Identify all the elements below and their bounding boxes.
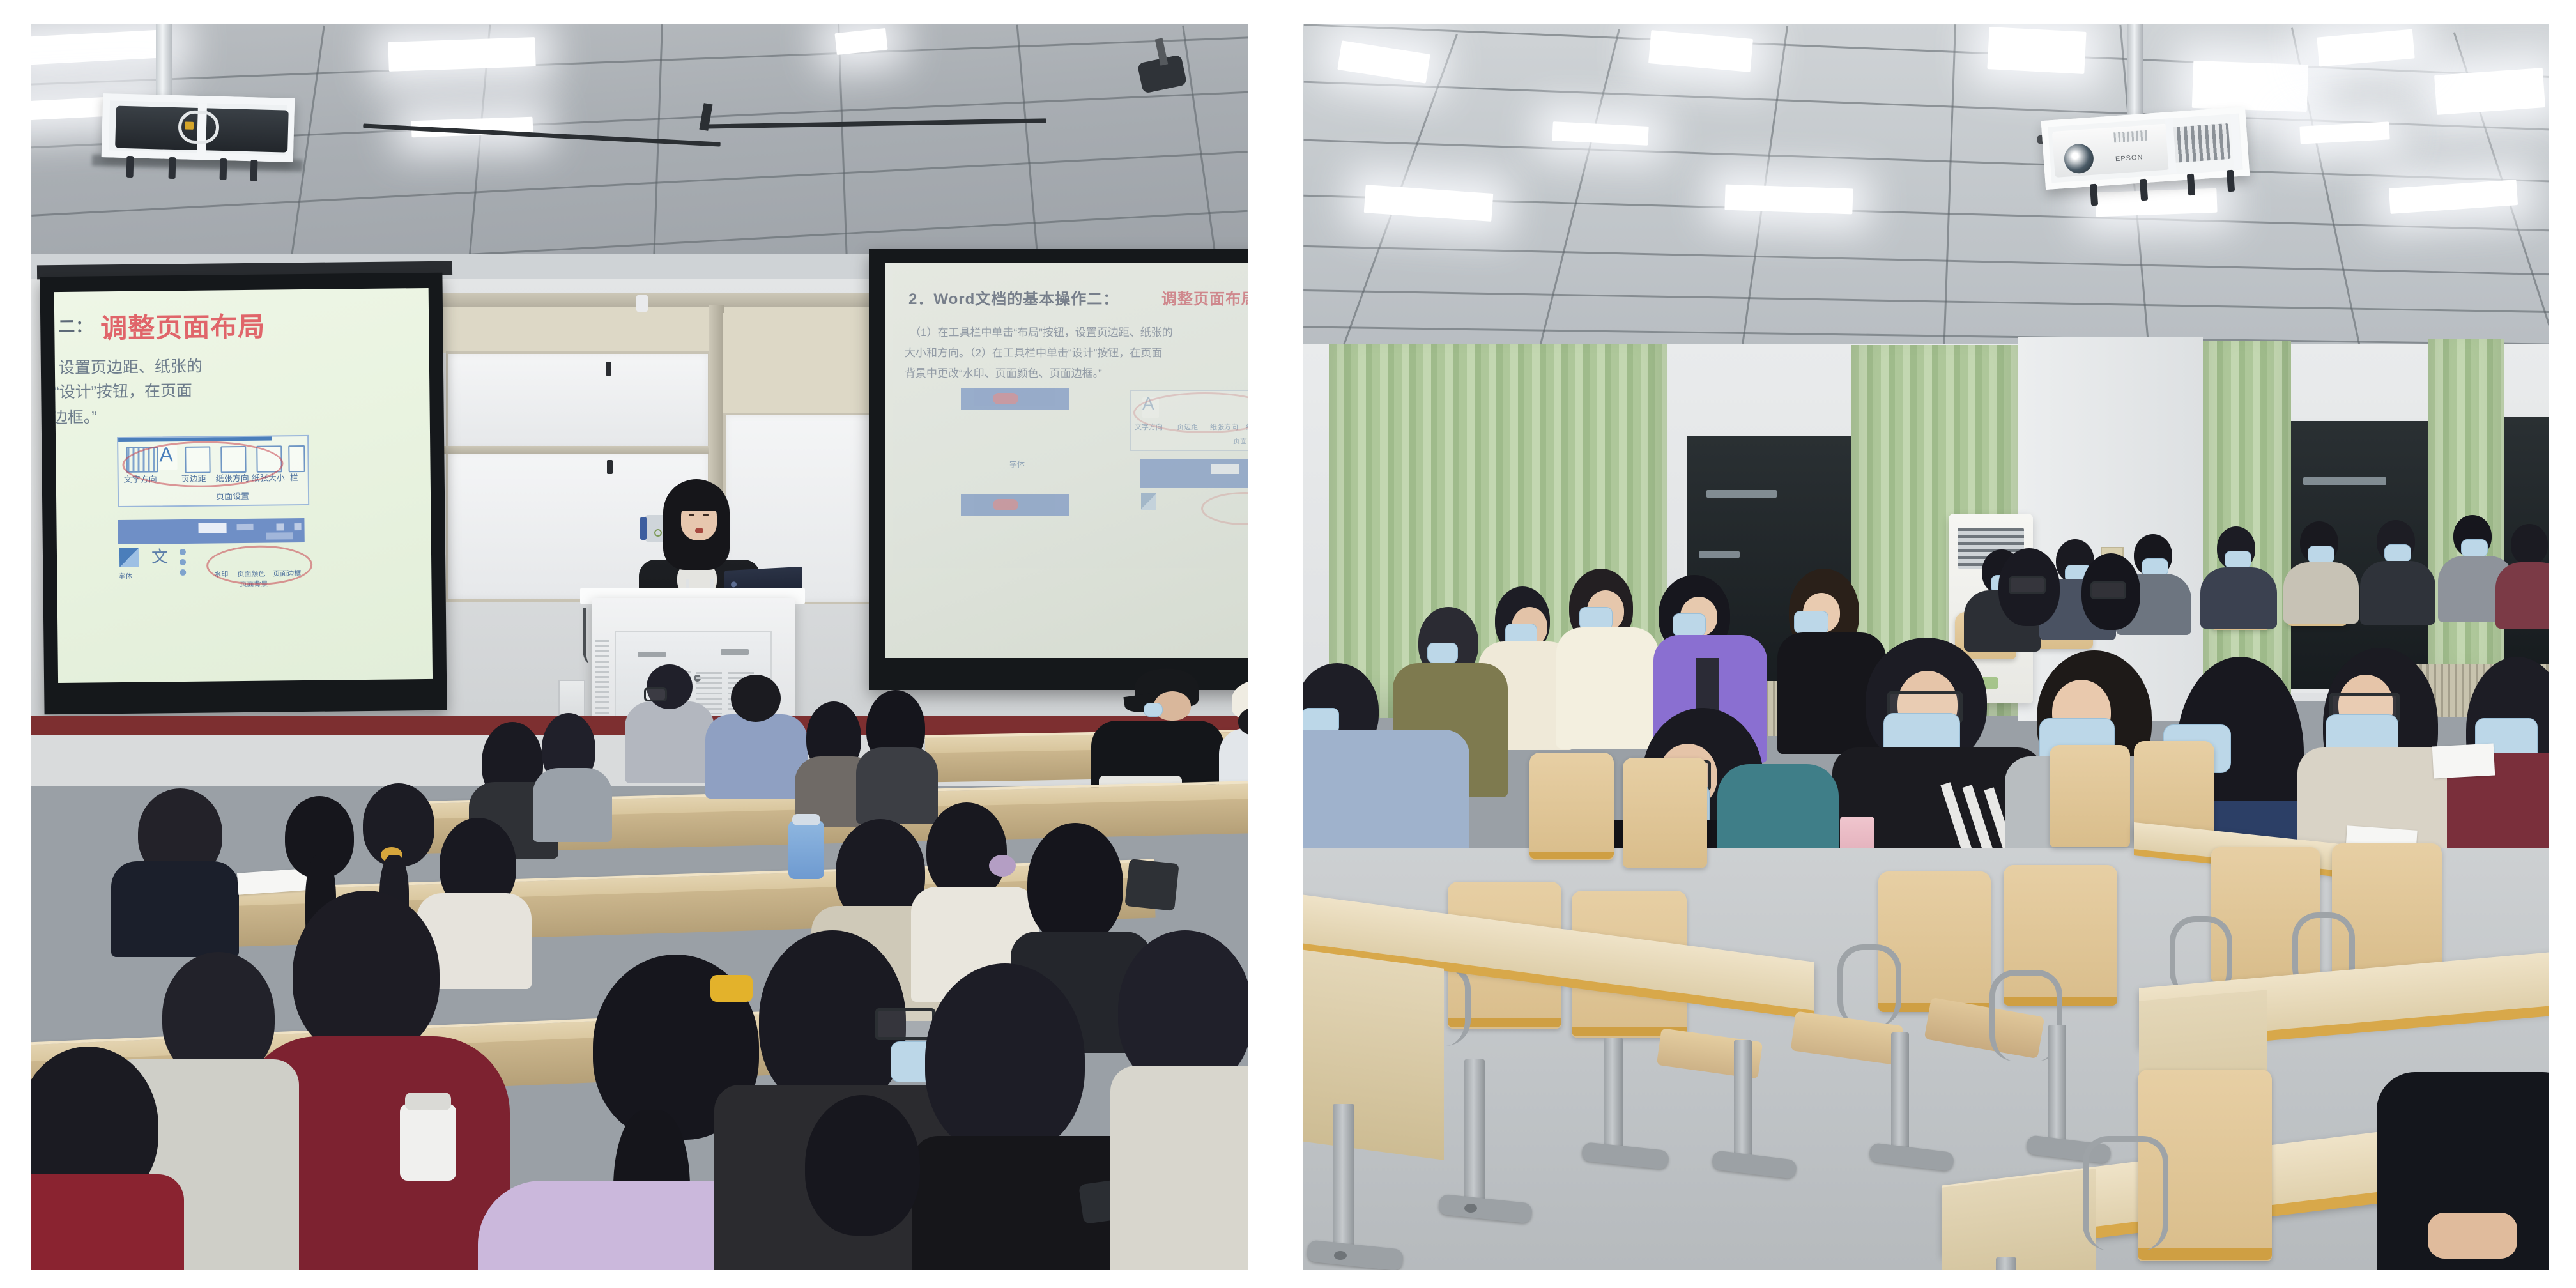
student-torso (2200, 567, 2277, 629)
student-hair (926, 802, 1007, 898)
thermos-lid (405, 1092, 451, 1110)
whiteboard-track (440, 293, 887, 307)
eyeglasses (875, 1008, 935, 1040)
titlebar-close-icon (294, 523, 301, 530)
student-torso (111, 861, 239, 957)
student-torso (2360, 561, 2435, 625)
slide-body-line: “设计”按钮，在页面 (54, 379, 192, 405)
student-hair (805, 1095, 920, 1236)
lecturer-mouth (695, 528, 703, 533)
student-torso (705, 714, 808, 799)
cage-foot (126, 156, 134, 178)
slide-heading-text: 调整页面布局 (100, 305, 266, 346)
projector-cage (102, 93, 295, 162)
student-torso (2283, 562, 2359, 624)
chair-back[interactable] (1529, 753, 1614, 860)
ribbon-icon-columns (288, 445, 305, 472)
student-hands (2428, 1213, 2517, 1259)
hair-clip-yellow (710, 975, 753, 1002)
slide-annotation-oval (993, 499, 1018, 510)
ribbon-icon-font: 文 (151, 548, 168, 567)
ceiling-light (1987, 27, 2086, 74)
ribbon-group-label: 页面设置 (216, 489, 249, 502)
desk-leg (1996, 1257, 2016, 1270)
slide-titlebar-screenshot (961, 494, 1069, 516)
projector-body: EPSON (2052, 124, 2170, 178)
lecturer-eye (703, 514, 709, 516)
slide-font-ribbon (961, 414, 1076, 456)
leg-bolt (1334, 1251, 1347, 1260)
whiteboard-panel (446, 351, 710, 451)
left-photo: 二： 调整页面布局 设置页边距、纸张的 “设计”按钮，在页面 边框。” A (31, 24, 1248, 1270)
slide-ribbon-screenshot: A 文字方向 页边距 纸张方向 纸张大小 栏 页面设置 (117, 435, 309, 507)
laptop-logo (731, 581, 737, 587)
face-mask (2384, 544, 2411, 562)
cage-foot (2187, 174, 2195, 196)
projector-mount-pole (2127, 24, 2143, 120)
bottle-cap (792, 814, 820, 825)
ceiling-light (1724, 185, 1853, 215)
projection-screen-right: 2．Word文档的基本操作二： 调整页面布局 （1）在工具栏中单击“布局”按钮，… (869, 249, 1248, 690)
titlebar-share (266, 532, 293, 539)
chair-leg (1891, 1032, 1909, 1160)
water-bottle (788, 820, 824, 879)
titlebar-tab (198, 523, 226, 533)
student-head (731, 675, 781, 722)
slide-titlebar-screenshot (961, 388, 1069, 410)
chair-back[interactable] (1623, 758, 1707, 868)
slide-titlebar-screenshot (1140, 459, 1248, 488)
student-head (647, 664, 693, 709)
face-mask (1427, 643, 1458, 663)
cage-foot (2090, 184, 2098, 206)
whiteboard-eraser (636, 295, 648, 312)
slide-annotation-oval (993, 393, 1018, 404)
ribbon-group-label: 页面设置 (1233, 436, 1248, 446)
slide-annotation-oval (1201, 492, 1248, 525)
slide-body-line: 背景中更改“水印、页面颜色、页面边框。” (905, 365, 1102, 382)
titlebar-control (236, 524, 253, 530)
slide-title-red: 调整页面布局 (1161, 286, 1248, 309)
thermos-cup (400, 1104, 456, 1181)
desk-side-panel (1303, 943, 1444, 1160)
projector-lens (2063, 143, 2094, 174)
ribbon-command-label: 字体 (118, 571, 132, 581)
chair-edge (2138, 1248, 2272, 1260)
slide-design-ribbon (1140, 492, 1248, 529)
student-torso (533, 768, 612, 842)
student-torso (1556, 627, 1659, 749)
student-torso (31, 1174, 184, 1270)
ceiling-light (388, 37, 535, 72)
student-head (2511, 524, 2548, 565)
cage-foot (250, 160, 258, 181)
slide-annotation-oval (206, 545, 313, 586)
projector-indicator (185, 121, 194, 129)
projector-mount-pole (156, 24, 172, 102)
cage-bar (2230, 114, 2242, 169)
slide-body-line: （1）在工具栏中单击“布局”按钮，设置页边距、纸张的 (910, 325, 1173, 341)
ribbon-bullet-icon (180, 559, 186, 565)
slide-font-ribbon (961, 520, 1076, 562)
slide-ribbon-screenshot: A 文字方向 页边距 纸张方向 纸张大小 页面设置 (1130, 390, 1248, 451)
cage-foot (2227, 170, 2235, 192)
cage-foot (220, 158, 227, 180)
lecturer-eye (689, 514, 694, 516)
face-mask (2225, 551, 2251, 569)
ribbon-icon-themes (119, 548, 139, 567)
ceiling-light (2434, 68, 2545, 115)
slide-body-line: 设置页边距、纸张的 (59, 355, 203, 381)
titlebar-control (276, 523, 284, 530)
face-mask (2308, 546, 2334, 563)
student-bag (1124, 859, 1179, 911)
desk-leg (1333, 1104, 1354, 1257)
titlebar-tab (1211, 464, 1239, 474)
podium-microphone (583, 608, 590, 663)
projection-screen-left: 二： 调整页面布局 设置页边距、纸张的 “设计”按钮，在页面 边框。” A (40, 273, 447, 715)
student-scarf (1717, 764, 1839, 860)
student-hair (293, 891, 440, 1057)
student-torso (856, 747, 938, 824)
window-curtain (2202, 341, 2291, 712)
whiteboard-marker (606, 362, 611, 376)
ceiling-light (2192, 61, 2308, 112)
eyeglasses (644, 687, 667, 701)
projector-control-panel[interactable] (2113, 130, 2147, 143)
projection-screen-surface: 二： 调整页面布局 设置页边距、纸张的 “设计”按钮，在页面 边框。” A (54, 288, 433, 683)
slide-design-ribbon: 字体 文 水印 页面颜色 页面边框 页面背景 (118, 545, 305, 588)
cage-foot (169, 157, 176, 179)
face-mask (1579, 607, 1613, 630)
chair-armrest (2083, 1136, 2168, 1250)
desk-leg (1464, 1059, 1485, 1213)
ribbon-bullet-icon (180, 569, 186, 576)
slide-title-black: 2．Word文档的基本操作二： (908, 286, 1119, 309)
projection-screen-surface: 2．Word文档的基本操作二： 调整页面布局 （1）在工具栏中单击“布局”按钮，… (885, 263, 1248, 658)
podium-slot (638, 652, 666, 657)
whiteboard-marker (607, 460, 613, 474)
dispenser-logo (654, 529, 662, 537)
leg-bolt (1464, 1204, 1477, 1213)
student-hair (925, 963, 1085, 1155)
student-torso (2495, 562, 2549, 629)
projector-vent-grille (2170, 123, 2231, 163)
eyeglasses (2090, 581, 2126, 599)
chair-edge (1529, 852, 1614, 859)
face-mask (1673, 613, 1706, 636)
desk-leg (1604, 1038, 1623, 1159)
ribbon-icon-themes (1141, 493, 1156, 510)
whiteboard-track (441, 446, 716, 454)
student-hair (1027, 823, 1123, 944)
face-mask (1144, 703, 1163, 717)
projector-cage: EPSON (2041, 107, 2250, 190)
hair-scrunchie (989, 855, 1016, 877)
chair-leg (2048, 1025, 2066, 1153)
student-torso (625, 701, 714, 783)
notebook (2432, 744, 2495, 779)
ribbon-command-label: 栏 (290, 471, 298, 483)
ceiling-light (2095, 188, 2217, 217)
slide-titlebar-screenshot (118, 518, 304, 544)
photo-pair-sheet: 二： 调整页面布局 设置页边距、纸张的 “设计”按钮，在页面 边框。” A (0, 0, 2576, 1288)
ribbon-bullet-icon (180, 549, 186, 555)
eyeglasses (2009, 576, 2046, 594)
chair-back[interactable] (2050, 745, 2130, 847)
face-mask (2461, 539, 2488, 557)
ribbon-group-label: 字体 (1009, 459, 1025, 470)
student-torso (1110, 1066, 1248, 1270)
face-mask (1794, 611, 1828, 634)
slide-body-line: 边框。” (54, 405, 97, 430)
chair-leg (1734, 1040, 1752, 1168)
cage-foot (2140, 179, 2148, 201)
chair-armrest (1837, 944, 1901, 1027)
slide-heading-number: 二： (58, 313, 93, 337)
right-photo: EPSON (1303, 24, 2549, 1270)
slide-body-line: 大小和方向。（2）在工具栏中单击“设计”按钮，在页面 (905, 345, 1162, 362)
projector-brand-label: EPSON (2115, 153, 2143, 163)
podium-slot (721, 649, 749, 655)
